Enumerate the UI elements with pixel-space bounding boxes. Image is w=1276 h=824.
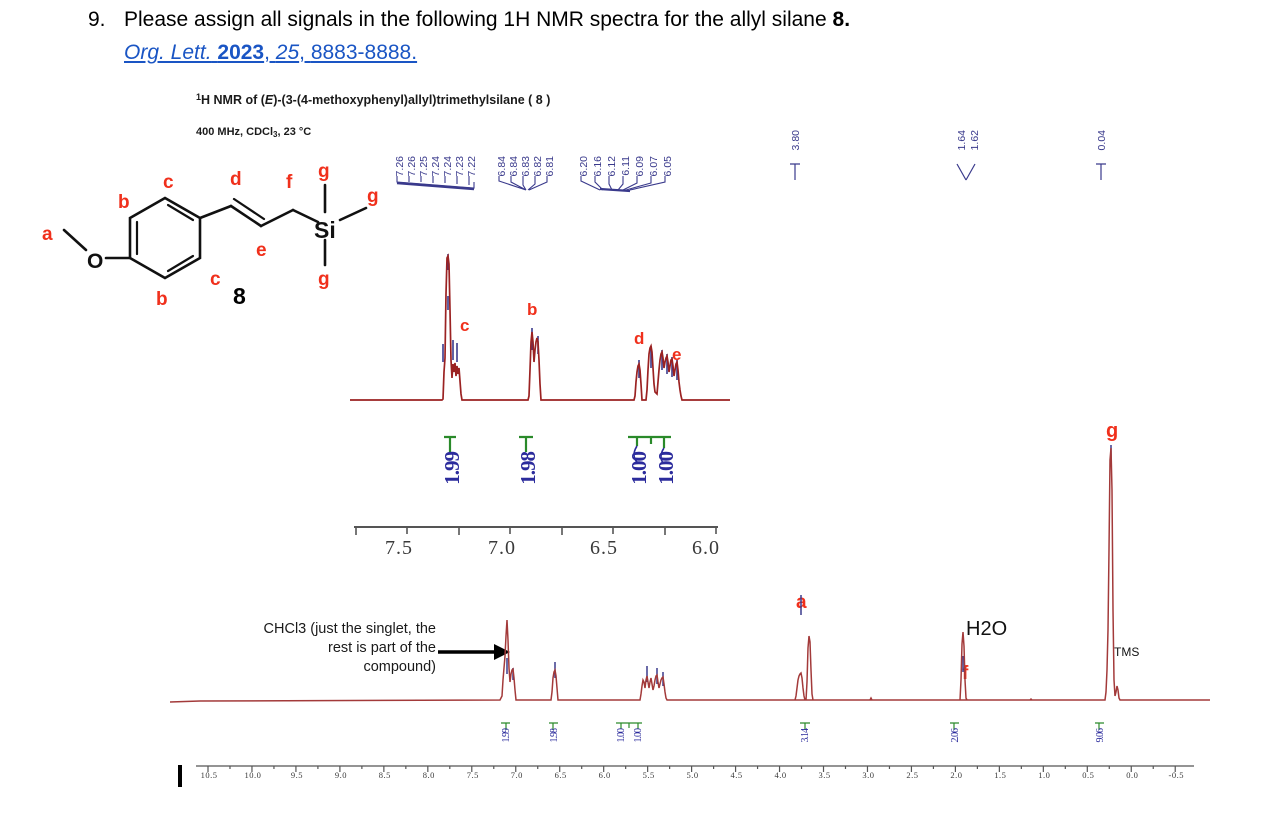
- bond-vinyl-ch2: [261, 210, 293, 226]
- structure-label-g-bottom: g: [318, 269, 330, 290]
- shift-leader-lines-vinyl: [578, 176, 678, 194]
- full-axis-tick: 3.0: [857, 770, 879, 780]
- bond-methyl-oxygen: [64, 230, 86, 250]
- shift-label: 6.12: [606, 156, 618, 176]
- full-spectrum-baseline-and-peaks: [170, 448, 1210, 702]
- chemical-structure: O Si a b b c c d e f g g g: [18, 160, 378, 320]
- conditions-part-b: , 23 °C: [277, 126, 311, 138]
- full-integration-value: 2.06: [950, 729, 961, 743]
- structure-label-c-top: c: [163, 172, 174, 193]
- full-axis-tick: 5.0: [682, 770, 704, 780]
- citation-volume: 25: [276, 41, 299, 64]
- spectrum-title-rest: )-(3-(4-methoxyphenyl)allyl)trimethylsil…: [273, 93, 536, 107]
- shift-label: 3.80: [790, 130, 802, 150]
- question-number: 9.: [88, 8, 106, 32]
- shift-label: 6.16: [592, 156, 604, 176]
- bond-alkene-double: [234, 199, 264, 219]
- structure-label-e: e: [256, 240, 267, 261]
- shift-label: 6.81: [544, 156, 556, 176]
- spectrum-conditions: 400 MHz, CDCl3, 23 °C: [196, 126, 311, 139]
- structure-label-d: d: [230, 169, 242, 190]
- full-integration-value: 3.14: [800, 729, 811, 743]
- citation-year: 2023: [217, 41, 264, 64]
- structure-label-g-right: g: [367, 186, 378, 207]
- full-axis-tick: 8.5: [374, 770, 396, 780]
- citation-journal: Org. Lett.: [124, 41, 212, 64]
- shift-label-group-methoxy: 3.80: [790, 130, 802, 150]
- full-axis-tick: 9.0: [330, 770, 352, 780]
- compound-number-label: 8: [233, 283, 246, 310]
- bond-alkene: [231, 206, 261, 226]
- shift-label: 7.26: [406, 156, 418, 176]
- oxygen-atom-label: O: [87, 250, 103, 273]
- question-compound-ref: 8.: [833, 8, 851, 31]
- shift-label: 1.62: [969, 130, 981, 150]
- full-integration-value: 1.00: [633, 729, 644, 743]
- shift-label: 7.26: [394, 156, 406, 176]
- expansion-peak-letter-d: d: [634, 329, 644, 349]
- full-axis-tick: 10.5: [198, 770, 220, 780]
- shift-label: 6.83: [520, 156, 532, 176]
- expansion-peak-letter-c: c: [460, 316, 469, 336]
- benzene-ring: [130, 198, 200, 278]
- expansion-peak-letter-b: b: [527, 300, 537, 320]
- conditions-part-a: 400 MHz, CDCl: [196, 126, 273, 138]
- shift-leader-lines-allylic: [952, 162, 982, 184]
- shift-label: 7.23: [454, 156, 466, 176]
- shift-leader-lines-c: [394, 176, 484, 192]
- full-axis-tick: -0.5: [1165, 770, 1187, 780]
- full-axis-tick: 4.0: [770, 770, 792, 780]
- full-axis-tick: 7.0: [506, 770, 528, 780]
- expansion-peak-markers: [443, 254, 677, 380]
- full-axis-tick: 0.5: [1077, 770, 1099, 780]
- bond-ring-vinyl: [200, 206, 231, 218]
- shift-label: 7.25: [418, 156, 430, 176]
- silicon-atom-label: Si: [314, 217, 336, 243]
- full-spectrum-trace: [170, 430, 1210, 712]
- structure-label-g-top: g: [318, 161, 330, 182]
- full-integration-value: 1.99: [501, 729, 512, 743]
- full-axis-tick: 7.5: [462, 770, 484, 780]
- full-axis-tick: 9.5: [286, 770, 308, 780]
- full-axis-tick: 1.0: [1033, 770, 1055, 780]
- spectrum-title: 1H NMR of (E)-(3-(4-methoxyphenyl)allyl)…: [196, 92, 550, 107]
- spectrum-title-compound: 8: [536, 93, 543, 107]
- shift-label-group-tms: 0.04: [1096, 130, 1108, 150]
- shift-label: 7.24: [430, 156, 442, 176]
- shift-label: 6.84: [496, 156, 508, 176]
- citation-pages: 8883-8888.: [311, 41, 417, 64]
- full-axis-tick: 3.5: [814, 770, 836, 780]
- shift-label: 6.11: [620, 156, 632, 176]
- full-axis-tick: 5.5: [638, 770, 660, 780]
- full-spectrum-peak-markers: [507, 445, 1111, 686]
- bond-si-me-right: [340, 208, 366, 220]
- expansion-baseline-and-peaks: [350, 256, 730, 400]
- expansion-spectrum-trace: [350, 250, 730, 412]
- full-integration-value: 9.06: [1095, 729, 1106, 743]
- question-text-main: Please assign all signals in the followi…: [124, 8, 833, 31]
- full-axis-tick: 2.0: [945, 770, 967, 780]
- shift-label: 6.82: [532, 156, 544, 176]
- citation-link[interactable]: Org. Lett. 2023, 25, 8883-8888.: [124, 41, 417, 65]
- shift-leader-line-methoxy: [788, 162, 804, 182]
- shift-label: 6.84: [508, 156, 520, 176]
- structure-label-a: a: [42, 224, 53, 245]
- structure-label-f: f: [286, 172, 293, 193]
- shift-label: 0.04: [1096, 130, 1108, 150]
- shift-leader-lines-b: [496, 176, 566, 194]
- full-integration-value: 1.00: [616, 729, 627, 743]
- shift-label: 6.20: [578, 156, 590, 176]
- expansion-peak-letter-e: e: [672, 345, 681, 365]
- full-axis-tick: 10.0: [242, 770, 264, 780]
- full-axis-tick: 1.5: [989, 770, 1011, 780]
- question-text: Please assign all signals in the followi…: [124, 8, 850, 32]
- shift-label: 6.09: [634, 156, 646, 176]
- full-axis-tick: 6.5: [550, 770, 572, 780]
- stereo-descriptor: E: [265, 93, 273, 107]
- shift-label: 7.24: [442, 156, 454, 176]
- shift-label: 7.22: [466, 156, 478, 176]
- full-axis-tick: 2.5: [901, 770, 923, 780]
- left-margin-bar: [178, 765, 182, 787]
- full-integration-value: 1.98: [549, 729, 560, 743]
- full-axis-tick: 6.0: [594, 770, 616, 780]
- structure-label-b-top: b: [118, 192, 130, 213]
- structure-label-c-bottom: c: [210, 269, 221, 290]
- shift-label: 1.64: [956, 130, 968, 150]
- shift-leader-line-tms: [1094, 162, 1110, 182]
- full-axis-tick-labels: 10.510.09.59.08.58.07.57.06.56.05.55.04.…: [196, 770, 1196, 786]
- shift-label: 6.05: [662, 156, 674, 176]
- spectrum-title-close: ): [543, 93, 551, 107]
- shift-label: 6.07: [648, 156, 660, 176]
- full-axis-tick: 4.5: [726, 770, 748, 780]
- spectrum-title-prefix: H NMR of (: [201, 93, 265, 107]
- full-axis-tick: 0.0: [1121, 770, 1143, 780]
- full-axis-tick: 8.0: [418, 770, 440, 780]
- structure-label-b-bottom: b: [156, 289, 168, 310]
